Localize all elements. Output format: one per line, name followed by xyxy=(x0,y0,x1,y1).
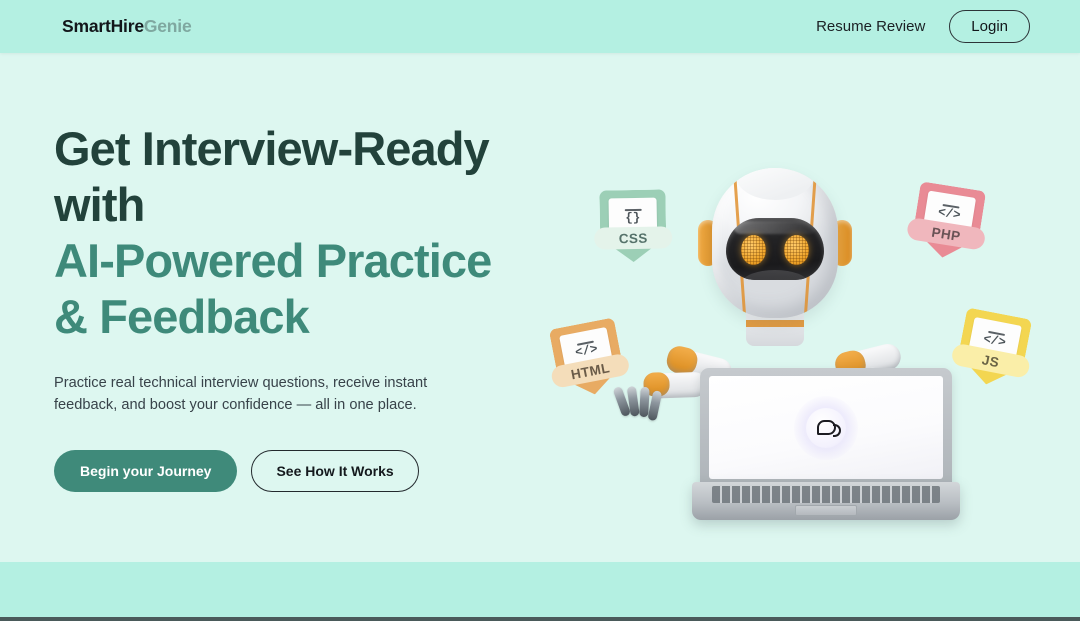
laptop xyxy=(692,368,960,520)
robot-visor xyxy=(726,218,824,280)
badge-html-glyph: </> xyxy=(574,343,598,360)
brand-logo[interactable]: SmartHireGenie xyxy=(62,16,192,37)
hero-section: Get Interview-Ready with AI-Powered Prac… xyxy=(0,53,1080,562)
robot-eye-right xyxy=(784,235,809,265)
laptop-trackpad xyxy=(795,505,857,516)
headline-line-2: with xyxy=(54,178,144,231)
robot-visor-smile xyxy=(742,270,808,280)
badge-js-icon: </> JS xyxy=(954,307,1033,390)
hero-subtext-line-2: boost your confidence — all in one place… xyxy=(150,397,417,413)
robot-figure xyxy=(650,168,900,498)
badge-php-icon: </> PHP xyxy=(910,181,986,262)
headline-line-1: Get Interview-Ready xyxy=(54,122,489,175)
hero-illustration: {} CSS </> PHP </> HTML xyxy=(545,128,1005,528)
robot-eye-left xyxy=(741,235,766,265)
laptop-base xyxy=(692,482,960,520)
robot-neck-band xyxy=(746,320,804,327)
badge-css-glyph: {} xyxy=(625,212,640,225)
robot-head-highlight xyxy=(736,168,814,200)
page-title: Get Interview-Ready with AI-Powered Prac… xyxy=(54,121,524,345)
robot-head xyxy=(712,168,838,318)
nav-link-resume-review[interactable]: Resume Review xyxy=(816,18,925,35)
chat-halo xyxy=(794,396,858,460)
laptop-screen xyxy=(709,376,943,479)
badge-php-glyph: </> xyxy=(937,207,961,223)
landing-page: SmartHireGenie Resume Review Login Get I… xyxy=(0,0,1080,621)
robot-finger xyxy=(647,390,662,421)
site-header: SmartHireGenie Resume Review Login xyxy=(0,0,1080,53)
cta-row: Begin your Journey See How It Works xyxy=(54,450,524,492)
login-button[interactable]: Login xyxy=(949,10,1030,43)
chat-halo-inner xyxy=(806,408,846,448)
hero-subtext: Practice real technical interview questi… xyxy=(54,372,494,417)
begin-journey-button[interactable]: Begin your Journey xyxy=(54,450,237,492)
see-how-it-works-button[interactable]: See How It Works xyxy=(251,450,418,492)
page-bottom-edge xyxy=(0,617,1080,621)
site-footer xyxy=(0,562,1080,617)
header-nav: Resume Review Login xyxy=(816,10,1030,43)
robot-visor-gloss xyxy=(734,221,816,234)
headline-line-4: & Feedback xyxy=(54,290,309,343)
hero-copy: Get Interview-Ready with AI-Powered Prac… xyxy=(54,121,524,492)
chat-bubble-icon xyxy=(817,420,836,435)
headline-line-3: AI-Powered Practice xyxy=(54,234,491,287)
badge-js-glyph: </> xyxy=(982,333,1006,350)
laptop-keyboard xyxy=(712,486,940,503)
brand-logo-primary: SmartHire xyxy=(62,16,144,36)
brand-logo-secondary: Genie xyxy=(144,16,192,36)
laptop-lid xyxy=(700,368,952,486)
